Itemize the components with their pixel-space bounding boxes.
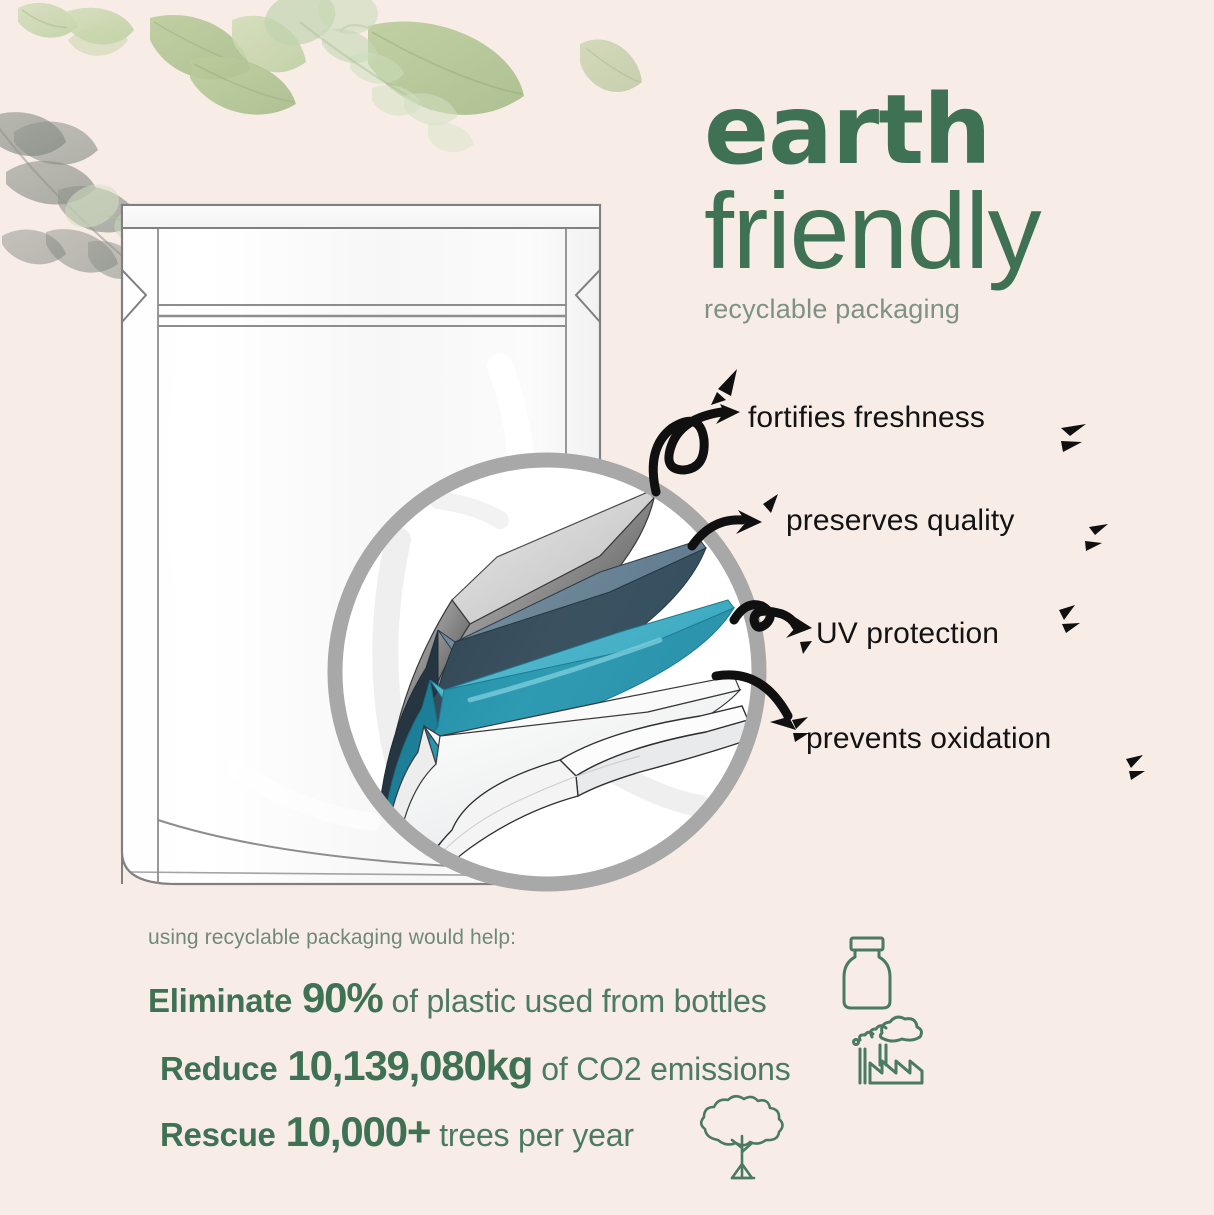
infographic-canvas: earth friendly recyclable packaging fort… [0, 0, 1214, 1215]
title-line-earth: earth [704, 86, 1204, 174]
stat-verb: Rescue [160, 1116, 276, 1154]
arrow-fortifies [653, 412, 722, 492]
factory-icon [852, 1015, 926, 1091]
stat-verb: Eliminate [148, 982, 292, 1020]
stat-verb: Reduce [160, 1050, 277, 1088]
arrow-oxidation [716, 675, 788, 716]
stat-row-eliminate: Eliminate 90% of plastic used from bottl… [148, 974, 1148, 1022]
feature-label-fortifies-freshness: fortifies freshness [748, 401, 985, 435]
tree-icon [688, 1092, 798, 1192]
page-title: earth friendly recyclable packaging [704, 86, 1204, 325]
impact-stats: using recyclable packaging would help: E… [148, 926, 1148, 1156]
stat-row-rescue: Rescue 10,000+ trees per year [160, 1108, 1148, 1156]
bottle-icon [836, 935, 898, 1013]
stat-value: 10,000+ [286, 1108, 431, 1156]
feature-label-uv-protection: UV protection [816, 617, 999, 651]
title-subtitle: recyclable packaging [704, 294, 1204, 325]
stats-intro: using recyclable packaging would help: [148, 926, 1148, 950]
stat-rest: trees per year [439, 1117, 634, 1154]
feature-label-prevents-oxidation: prevents oxidation [806, 722, 1051, 756]
stat-value: 10,139,080kg [287, 1042, 532, 1090]
stat-rest: of plastic used from bottles [391, 983, 766, 1020]
stat-rest: of CO2 emissions [541, 1051, 790, 1088]
title-line-friendly: friendly [704, 178, 1204, 284]
stat-value: 90% [302, 974, 382, 1022]
feature-label-preserves-quality: preserves quality [786, 504, 1014, 538]
arrow-preserves [692, 520, 742, 546]
stat-row-reduce: Reduce 10,139,080kg of CO2 emissions [160, 1042, 1148, 1090]
arrow-uv [734, 605, 796, 628]
